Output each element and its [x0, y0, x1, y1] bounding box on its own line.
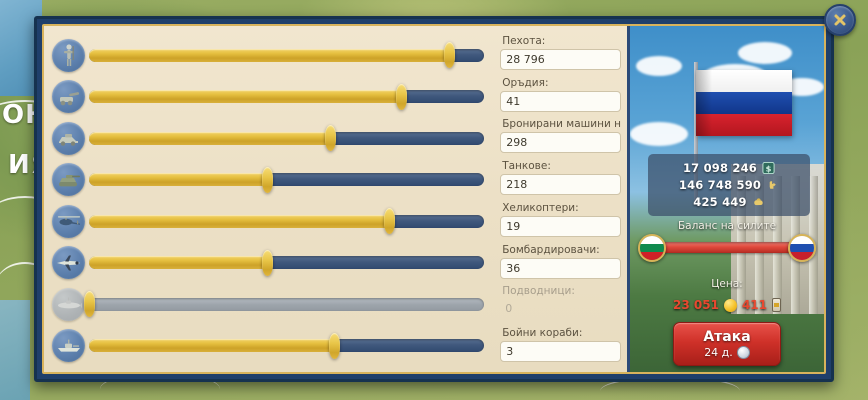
slider-fill — [89, 90, 401, 103]
slider-row-warship — [52, 326, 488, 366]
slider-fill — [89, 173, 267, 186]
value-input-bomber[interactable]: 36 — [500, 258, 621, 279]
value-input-helicopter[interactable]: 19 — [500, 216, 621, 237]
slider-row-armored-vehicle — [52, 118, 488, 158]
population-icon — [766, 178, 779, 192]
slider-row-helicopter — [52, 201, 488, 241]
slider-fill — [89, 49, 449, 62]
attack-button-label: Атака — [703, 329, 750, 345]
russian-flag — [696, 70, 792, 136]
russia-flag-badge — [788, 234, 816, 262]
bomber-icon — [52, 246, 85, 279]
oil-barrel-icon — [772, 298, 781, 312]
attack-duration-text: 24 д. — [704, 346, 733, 359]
slider-row-tank — [52, 160, 488, 200]
value-group-submarine: Подводници: 0 — [500, 284, 621, 324]
value-input-submarine: 0 — [500, 299, 621, 320]
resource-value-cash: 17 098 246 — [683, 161, 757, 175]
resource-row-cash: 17 098 246 $ — [656, 159, 802, 176]
warship-icon — [52, 329, 85, 362]
left-pane: Пехота: 28 796 Оръдия: 41 Бронирани маши… — [44, 26, 627, 372]
value-label-helicopter: Хеликоптери: — [500, 201, 621, 215]
dialog-inner: Пехота: 28 796 Оръдия: 41 Бронирани маши… — [42, 24, 826, 374]
slider-handle-warship[interactable] — [329, 333, 340, 359]
value-label-tank: Танкове: — [500, 159, 621, 173]
price-gold-value: 23 051 — [673, 298, 719, 312]
armored-vehicle-icon — [52, 122, 85, 155]
slider-handle-bomber[interactable] — [262, 250, 273, 276]
slider-track-tank[interactable] — [89, 173, 484, 186]
resource-value-power: 425 449 — [693, 195, 746, 209]
slider-handle-infantry[interactable] — [444, 42, 455, 68]
value-label-armored-vehicle: Бронирани машини н — [500, 117, 621, 131]
slider-handle-artillery[interactable] — [396, 84, 407, 110]
slider-track-helicopter[interactable] — [89, 215, 484, 228]
slider-fill — [89, 339, 334, 352]
value-group-infantry: Пехота: 28 796 — [500, 34, 621, 74]
resource-row-population: 146 748 590 — [656, 176, 802, 193]
slider-track-bomber[interactable] — [89, 256, 484, 269]
value-input-infantry[interactable]: 28 796 — [500, 49, 621, 70]
resource-row-power: 425 449 — [656, 193, 802, 210]
cloud — [636, 56, 682, 76]
slider-fill — [89, 256, 267, 269]
cloud — [738, 42, 792, 64]
slider-handle-helicopter[interactable] — [384, 208, 395, 234]
helicopter-icon — [52, 205, 85, 238]
power-icon — [752, 195, 765, 209]
value-label-submarine: Подводници: — [500, 284, 621, 298]
slider-row-bomber — [52, 243, 488, 283]
value-label-infantry: Пехота: — [500, 34, 621, 48]
price-row: 23 051 411 — [630, 298, 824, 312]
game-screen: ОНИ ИЯ — [0, 0, 868, 400]
unit-sliders-list — [44, 26, 496, 372]
gold-coin-icon — [724, 299, 737, 312]
map-water-southwest — [0, 300, 30, 400]
bulgaria-flag-badge — [638, 234, 666, 262]
country-scene: 17 098 246 $ 146 748 590 — [630, 26, 824, 372]
value-group-bomber: Бомбардировачи: 36 — [500, 243, 621, 283]
target-country-panel: 17 098 246 $ 146 748 590 — [627, 26, 824, 372]
clock-icon — [737, 346, 750, 359]
close-button[interactable] — [824, 4, 856, 36]
value-group-warship: Бойни кораби: 3 — [500, 326, 621, 366]
submarine-icon — [52, 288, 85, 321]
svg-text:$: $ — [766, 163, 772, 173]
value-group-tank: Танкове: 218 — [500, 159, 621, 199]
slider-handle-tank[interactable] — [262, 167, 273, 193]
cash-icon: $ — [762, 161, 775, 175]
balance-title: Баланс на силите — [630, 220, 824, 232]
value-input-tank[interactable]: 218 — [500, 174, 621, 195]
value-input-artillery[interactable]: 41 — [500, 91, 621, 112]
slider-track-artillery[interactable] — [89, 90, 484, 103]
slider-handle-submarine — [84, 291, 95, 317]
infantry-icon — [52, 39, 85, 72]
attack-button[interactable]: Атака 24 д. — [673, 322, 781, 366]
value-input-warship[interactable]: 3 — [500, 341, 621, 362]
value-label-warship: Бойни кораби: — [500, 326, 621, 340]
value-group-armored-vehicle: Бронирани машини н 298 — [500, 117, 621, 157]
slider-handle-armored-vehicle[interactable] — [325, 125, 336, 151]
resources-box: 17 098 246 $ 146 748 590 — [648, 154, 810, 216]
slider-track-armored-vehicle[interactable] — [89, 132, 484, 145]
slider-fill — [89, 132, 330, 145]
slider-track-submarine — [89, 298, 484, 311]
close-x-icon — [832, 12, 848, 28]
slider-row-submarine — [52, 284, 488, 324]
slider-track-warship[interactable] — [89, 339, 484, 352]
balance-bar — [650, 242, 804, 253]
value-label-artillery: Оръдия: — [500, 76, 621, 90]
value-label-bomber: Бомбардировачи: — [500, 243, 621, 257]
slider-fill — [89, 215, 389, 228]
slider-track-infantry[interactable] — [89, 49, 484, 62]
value-group-helicopter: Хеликоптери: 19 — [500, 201, 621, 241]
cloud — [630, 122, 688, 146]
slider-row-infantry — [52, 35, 488, 75]
army-composition-dialog: Пехота: 28 796 Оръдия: 41 Бронирани маши… — [34, 16, 834, 382]
slider-row-artillery — [52, 77, 488, 117]
attack-duration: 24 д. — [704, 346, 750, 359]
value-group-artillery: Оръдия: 41 — [500, 76, 621, 116]
value-input-armored-vehicle[interactable]: 298 — [500, 132, 621, 153]
price-title: Цена: — [630, 278, 824, 290]
tank-icon — [52, 163, 85, 196]
resource-value-population: 146 748 590 — [679, 178, 761, 192]
artillery-icon — [52, 80, 85, 113]
price-oil-value: 411 — [742, 298, 767, 312]
unit-values-list: Пехота: 28 796 Оръдия: 41 Бронирани маши… — [496, 26, 627, 372]
